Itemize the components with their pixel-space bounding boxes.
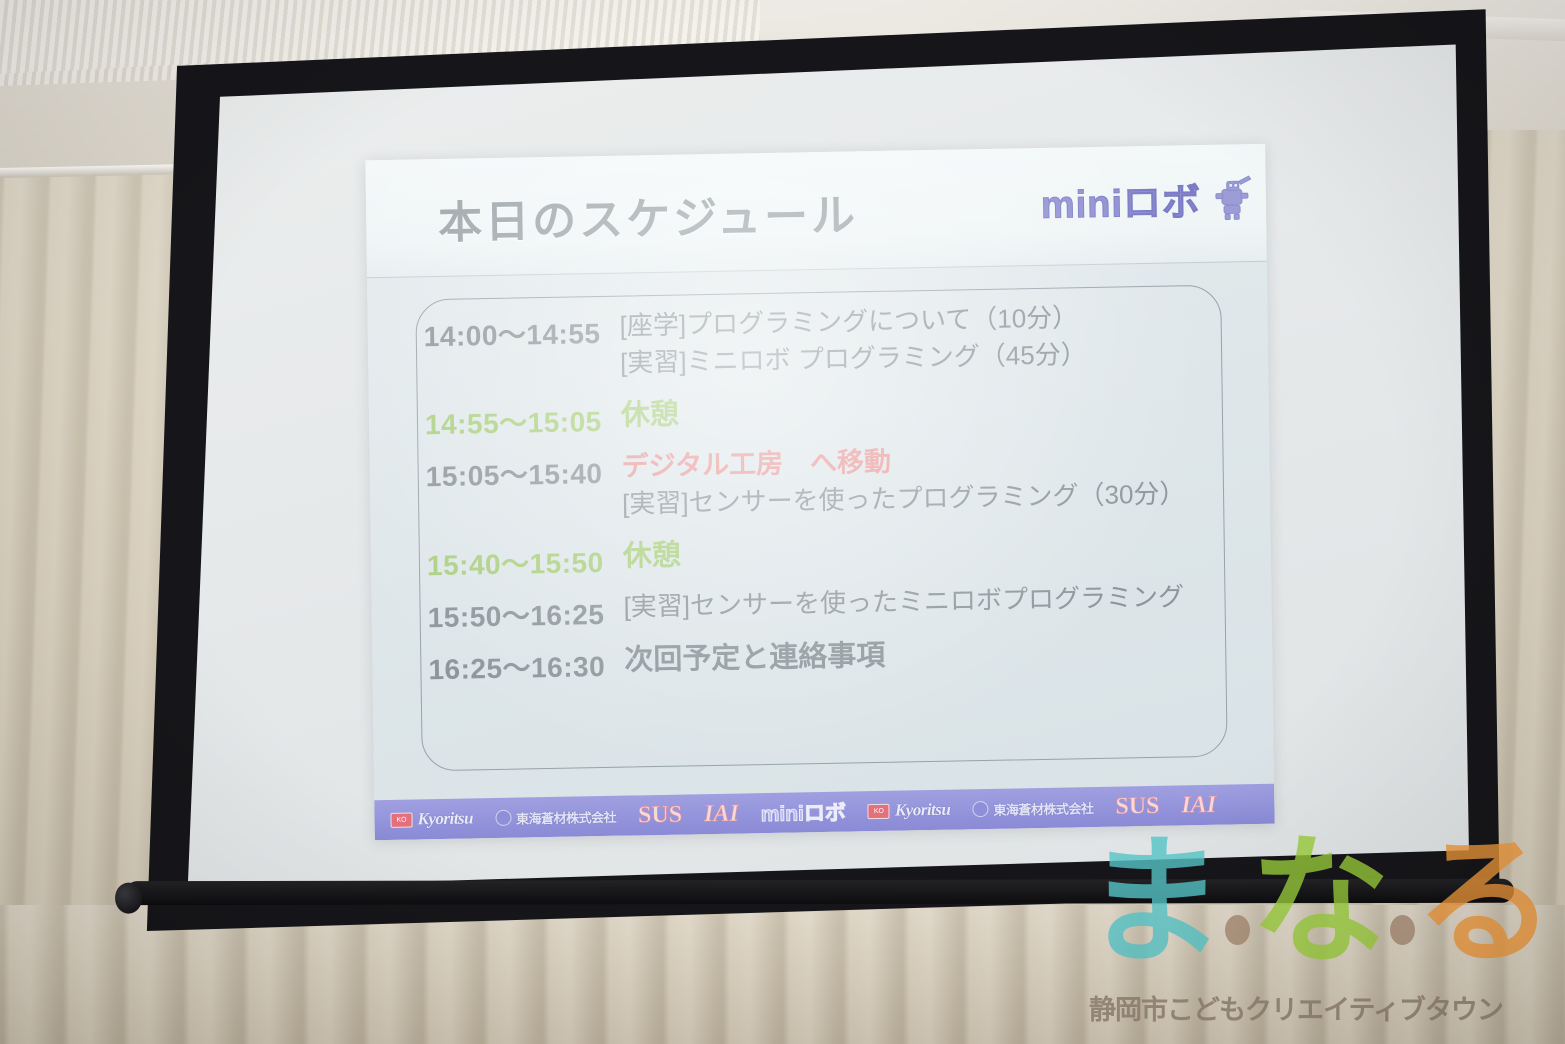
- slide-title: 本日のスケジュール: [438, 179, 859, 251]
- sponsor-logo: SUS: [1115, 792, 1159, 820]
- sponsor-name: miniロボ: [761, 797, 847, 829]
- schedule-row-time: 14:00〜14:55: [423, 308, 620, 356]
- sponsor-mark-icon: KO: [868, 803, 890, 818]
- sponsor-logo: miniロボ: [761, 797, 847, 829]
- projected-slide: 本日のスケジュール miniロボ: [365, 144, 1274, 840]
- photo-scene: 本日のスケジュール miniロボ: [0, 0, 1565, 1044]
- robot-mascot-icon: [1206, 174, 1259, 221]
- schedule-row-line: [実習]センサーを使ったミニロボプログラミング: [623, 578, 1227, 626]
- schedule-row-time: 16:25〜16:30: [428, 641, 625, 689]
- schedule-row-time: 15:05〜15:40: [425, 447, 622, 495]
- schedule-row: 15:50〜16:25[実習]センサーを使ったミニロボプログラミング: [427, 578, 1227, 637]
- schedule-row: 16:25〜16:30次回予定と連絡事項: [428, 630, 1228, 689]
- sponsor-name: SUS: [638, 801, 682, 829]
- sponsor-logo: SUS: [638, 801, 682, 829]
- sponsor-logo: KOKyoritsu: [868, 800, 951, 822]
- sponsor-name: SUS: [1115, 792, 1159, 820]
- sponsor-name: 東海蒼材株式会社: [516, 806, 616, 827]
- schedule-row-description: [座学]プログラミングについて（10分）[実習]ミニロボ プログラミング（45分…: [619, 297, 1224, 382]
- sponsor-logo: IAI: [704, 800, 739, 828]
- sponsor-logo: 東海蒼材株式会社: [972, 798, 1093, 819]
- sponsor-logo: 東海蒼材株式会社: [495, 806, 616, 827]
- schedule-row: 14:55〜15:05休憩: [425, 384, 1225, 443]
- screen-weight-bar: [125, 879, 1514, 905]
- sponsor-name: Kyoritsu: [895, 800, 951, 821]
- schedule-row-description: デジタル工房 へ移動[実習]センサーを使ったプログラミング（30分）: [621, 436, 1226, 522]
- schedule-row-time: 15:50〜16:25: [427, 589, 624, 637]
- schedule-row: 14:00〜14:55[座学]プログラミングについて（10分）[実習]ミニロボ …: [423, 297, 1224, 385]
- schedule-row: 15:40〜15:50休憩: [427, 526, 1227, 585]
- sponsor-name: Kyoritsu: [417, 808, 473, 829]
- schedule-row-time: 14:55〜15:05: [425, 395, 622, 443]
- schedule-row: 15:05〜15:40デジタル工房 へ移動[実習]センサーを使ったプログラミング…: [425, 436, 1226, 526]
- schedule-row-description: [実習]センサーを使ったミニロボプログラミング: [623, 578, 1227, 626]
- schedule-row-line: 休憩: [623, 526, 1227, 578]
- sponsor-name: IAI: [1181, 791, 1216, 819]
- schedule-row-description: 次回予定と連絡事項: [624, 630, 1228, 682]
- sponsor-circle-icon: [972, 801, 988, 817]
- schedule-rows: 14:00〜14:55[座学]プログラミングについて（10分）[実習]ミニロボ …: [423, 297, 1228, 697]
- sponsor-name: IAI: [704, 800, 739, 828]
- minirobo-logo-text: miniロボ: [1040, 171, 1201, 229]
- sponsor-circle-icon: [495, 810, 511, 826]
- sponsor-logo: IAI: [1181, 791, 1216, 819]
- screen-bar-end-cap: [115, 882, 143, 914]
- sponsor-mark-icon: KO: [390, 812, 412, 827]
- schedule-row-line: 次回予定と連絡事項: [624, 630, 1228, 682]
- schedule-row-line: 休憩: [621, 384, 1225, 436]
- sponsor-logo: KOKyoritsu: [390, 808, 473, 830]
- schedule-row-description: 休憩: [621, 384, 1225, 436]
- schedule-row-description: 休憩: [623, 526, 1227, 578]
- schedule-row-time: 15:40〜15:50: [427, 537, 624, 585]
- minirobo-logo: miniロボ: [1040, 170, 1258, 229]
- sponsor-name: 東海蒼材株式会社: [993, 798, 1093, 819]
